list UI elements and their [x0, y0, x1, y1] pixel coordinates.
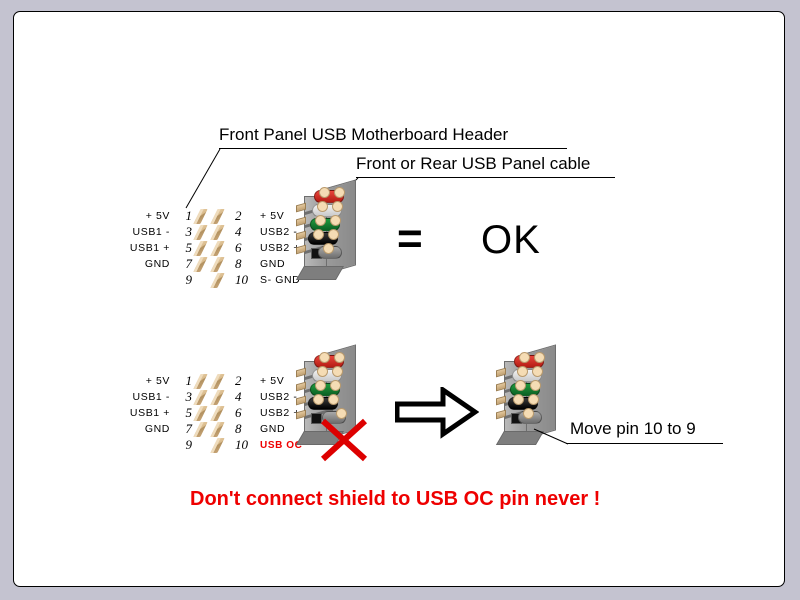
pin-label-left: + 5V [114, 210, 170, 222]
pin-row: GND78GND [114, 256, 318, 272]
wire-contact-end [315, 380, 326, 391]
header-pin-icon [210, 257, 224, 272]
header-title-leader-line [184, 148, 224, 210]
wire-contact-end [334, 352, 345, 363]
wire-contact-end [330, 215, 341, 226]
pin-row: + 5V12+ 5V [114, 208, 318, 224]
pin-row: USB1 -34USB2 - [114, 224, 318, 240]
header-title-underline [219, 148, 567, 149]
wire-contact-end [319, 352, 330, 363]
header-pin-slot-even [213, 208, 230, 224]
header-pin-slot-even [213, 240, 230, 256]
shield-contact-end [523, 408, 534, 419]
pin-number-odd: 9 [170, 437, 196, 453]
motherboard-header-pinout-bottom: + 5V12+ 5VUSB1 -34USB2 -USB1 +56USB2 +GN… [114, 373, 318, 453]
pin-number-odd: 1 [170, 208, 196, 224]
pin-number-even: 10 [230, 437, 257, 453]
header-pin-icon [193, 406, 207, 421]
move-pin-label: Move pin 10 to 9 [570, 420, 696, 437]
pin-number-even: 10 [230, 272, 257, 288]
pin-label-left: + 5V [114, 375, 170, 387]
pin-row: 910USB OC [114, 437, 318, 453]
wire-contact-end [317, 366, 328, 377]
diagram-canvas: Front Panel USB Motherboard Header Front… [0, 0, 800, 600]
pin-number-even: 2 [230, 373, 257, 389]
pin-number-odd: 5 [170, 405, 196, 421]
wire-contact-end [517, 366, 528, 377]
cable-title: Front or Rear USB Panel cable [356, 155, 590, 172]
header-pin-slot-even [213, 256, 230, 272]
pin-row: USB1 +56USB2 + [114, 240, 318, 256]
pin-row: USB1 +56USB2 + [114, 405, 318, 421]
wire-contact-end [532, 366, 543, 377]
wire-contact-end [313, 229, 324, 240]
header-pin-slot-even [213, 405, 230, 421]
wire-contact-end [528, 394, 539, 405]
pin-label-left: USB1 - [114, 391, 170, 403]
ok-label: OK [481, 220, 541, 260]
header-pin-icon [193, 209, 207, 224]
header-pin-icon [210, 422, 224, 437]
header-pin-icon [193, 422, 207, 437]
pin-number-odd: 9 [170, 272, 196, 288]
diagram-panel: Front Panel USB Motherboard Header Front… [13, 11, 785, 587]
header-pin-icon [193, 241, 207, 256]
pin-row: + 5V12+ 5V [114, 373, 318, 389]
header-pin-icon [210, 273, 224, 288]
pin-label-left: GND [114, 423, 170, 435]
pin-label-left: USB1 + [114, 407, 170, 419]
pin-number-even: 4 [230, 389, 257, 405]
shield-warning-text: Don't connect shield to USB OC pin never… [190, 488, 600, 511]
header-pin-icon [210, 209, 224, 224]
header-pin-icon [210, 225, 224, 240]
header-pin-icon [193, 257, 207, 272]
wire-contact-end [315, 215, 326, 226]
header-pin-slot-even [213, 373, 230, 389]
cable-title-underline [356, 177, 615, 178]
wire-contact-end [332, 366, 343, 377]
header-pin-slot-even [213, 272, 230, 288]
pin-number-even: 6 [230, 405, 257, 421]
pin-row: GND78GND [114, 421, 318, 437]
pin-label-left: USB1 + [114, 242, 170, 254]
header-pin-icon [210, 406, 224, 421]
wire-contact-end [317, 201, 328, 212]
pin-number-odd: 7 [170, 256, 196, 272]
shield-contact-end [323, 243, 334, 254]
pin-number-even: 8 [230, 256, 257, 272]
wire-contact-end [519, 352, 530, 363]
header-pin-slot-even [213, 437, 230, 453]
wire-contact-end [513, 394, 524, 405]
move-pin-underline [566, 443, 723, 444]
header-pin-icon [210, 390, 224, 405]
pin-number-even: 8 [230, 421, 257, 437]
header-pin-icon [193, 225, 207, 240]
equals-symbol: = [397, 217, 423, 261]
wire-contact-end [328, 394, 339, 405]
pin-number-even: 2 [230, 208, 257, 224]
header-pin-slot-even [213, 389, 230, 405]
wire-contact-end [328, 229, 339, 240]
pin-number-even: 4 [230, 224, 257, 240]
header-pin-slot-even [213, 421, 230, 437]
connector-base [296, 266, 344, 280]
pin-number-odd: 3 [170, 224, 196, 240]
header-pin-icon [210, 241, 224, 256]
wire-contact-end [530, 380, 541, 391]
pin-number-even: 6 [230, 240, 257, 256]
pin-number-odd: 1 [170, 373, 196, 389]
header-title: Front Panel USB Motherboard Header [219, 126, 508, 143]
pin-number-odd: 7 [170, 421, 196, 437]
header-pin-icon [193, 390, 207, 405]
pin-number-odd: 5 [170, 240, 196, 256]
header-pin-icon [193, 374, 207, 389]
red-x-cross-icon [319, 417, 371, 465]
pin-label-left: GND [114, 258, 170, 270]
wire-contact-end [534, 352, 545, 363]
motherboard-header-pinout-top: + 5V12+ 5VUSB1 -34USB2 -USB1 +56USB2 +GN… [114, 208, 318, 288]
pin-label-left: USB1 - [114, 226, 170, 238]
pin-row: 910S- GND [114, 272, 318, 288]
wire-contact-end [319, 187, 330, 198]
usb-cable-connector-correct [292, 188, 368, 288]
right-arrow-icon [395, 387, 479, 439]
header-pin-slot-even [213, 224, 230, 240]
header-pin-icon [210, 374, 224, 389]
wire-contact-end [330, 380, 341, 391]
pin-row: USB1 -34USB2 - [114, 389, 318, 405]
wire-contact-end [313, 394, 324, 405]
pin-number-odd: 3 [170, 389, 196, 405]
move-pin-leader-line [533, 427, 571, 447]
header-pin-icon [210, 438, 224, 453]
wire-contact-end [334, 187, 345, 198]
wire-contact-end [332, 201, 343, 212]
wire-contact-end [515, 380, 526, 391]
